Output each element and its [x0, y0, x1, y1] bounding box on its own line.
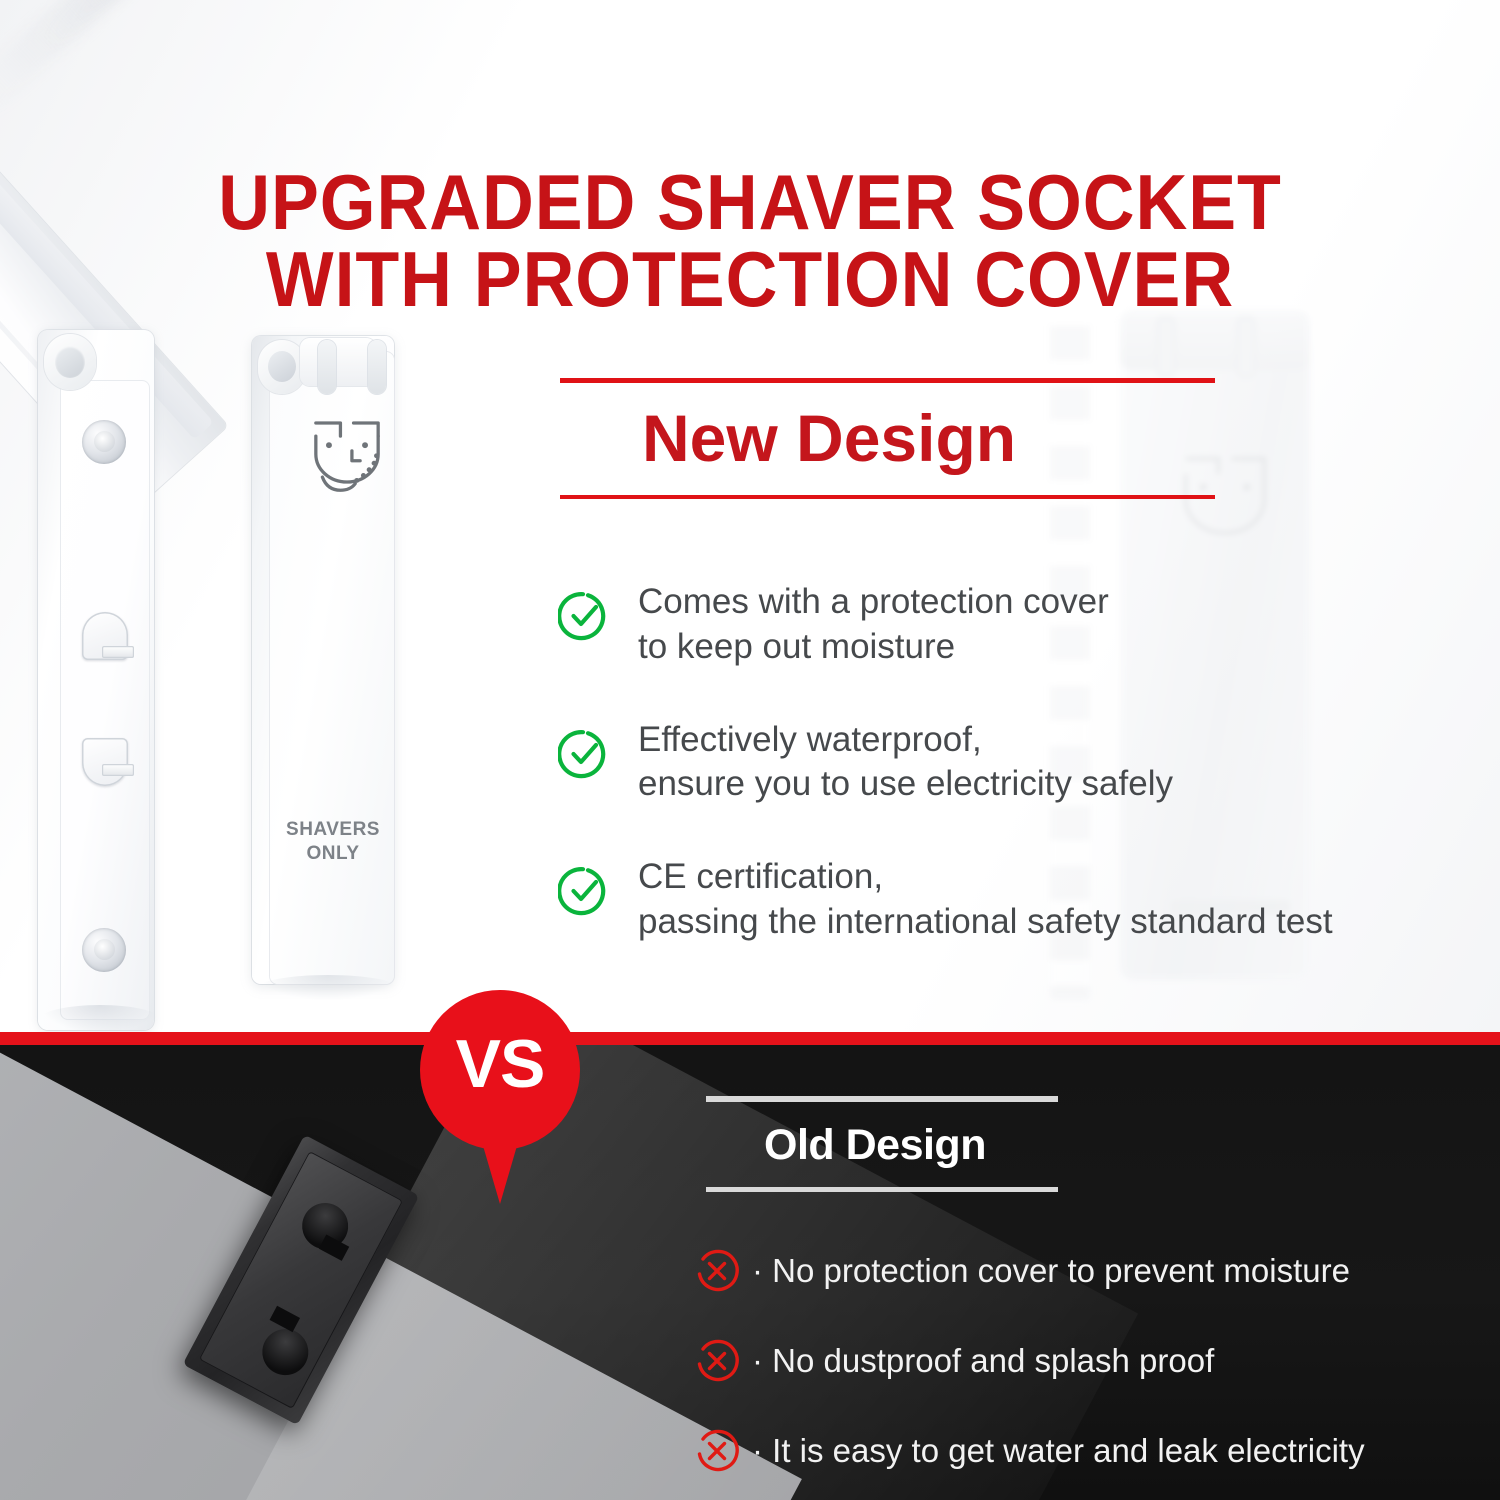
hole-round: [82, 738, 128, 786]
check-circle-icon: [558, 590, 610, 642]
hole-round: [254, 1321, 316, 1383]
page-title: UPGRADED SHAVER SOCKET WITH PROTECTION C…: [60, 88, 1440, 394]
old-design-heading-block: Old Design: [706, 1096, 1406, 1192]
mounting-screw: [82, 420, 126, 464]
feature-item: Comes with a protection cover to keep ou…: [558, 580, 1488, 670]
feature-text: Effectively waterproof, ensure you to us…: [638, 718, 1173, 808]
hole-bar: [102, 646, 134, 658]
vs-badge-label: VS: [420, 1030, 580, 1098]
hole-bar: [319, 1235, 349, 1261]
drawback-item: · It is easy to get water and leak elect…: [694, 1428, 1494, 1474]
feature-item: CE certification, passing the internatio…: [558, 855, 1488, 945]
hole-bar: [270, 1306, 300, 1332]
hole-bar: [102, 764, 134, 776]
cross-circle-icon: [694, 1338, 740, 1384]
screw-slot: [94, 939, 115, 960]
shavers-only-line1: SHAVERS: [268, 818, 398, 842]
heading-rule-bottom: [560, 495, 1215, 499]
cross-circle-icon: [694, 1428, 740, 1474]
heading-rule-bottom: [706, 1187, 1058, 1192]
shaving-face-icon: [306, 418, 388, 510]
shavers-only-line2: ONLY: [268, 842, 398, 866]
mounting-screw: [82, 928, 126, 972]
vs-badge: VS: [420, 990, 580, 1206]
drawback-text: · No protection cover to prevent moistur…: [752, 1251, 1350, 1291]
new-design-heading-block: New Design: [560, 378, 1460, 499]
socket-faceplate-open: [60, 380, 150, 1020]
new-design-section: SHAVERS ONLY UPGRADED SHAVER SOCKET WITH…: [0, 0, 1500, 1035]
section-divider: [0, 1032, 1500, 1045]
old-design-drawback-list: · No protection cover to prevent moistur…: [694, 1248, 1494, 1500]
feature-text: Comes with a protection cover to keep ou…: [638, 580, 1109, 670]
drawback-item: · No protection cover to prevent moistur…: [694, 1248, 1494, 1294]
check-circle-icon: [558, 728, 610, 780]
drawback-text: · It is easy to get water and leak elect…: [752, 1431, 1365, 1471]
drawback-text: · No dustproof and splash proof: [752, 1341, 1214, 1381]
old-design-heading: Old Design: [706, 1102, 1406, 1187]
old-socket-pin-hole: [287, 1195, 362, 1274]
title-line-1: UPGRADED SHAVER SOCKET: [218, 158, 1282, 246]
feature-item: Effectively waterproof, ensure you to us…: [558, 718, 1488, 808]
socket-pin-hole: [80, 738, 134, 812]
new-design-feature-list: Comes with a protection cover to keep ou…: [558, 580, 1488, 993]
check-circle-icon: [558, 865, 610, 917]
infographic-page: SHAVERS ONLY UPGRADED SHAVER SOCKET WITH…: [0, 0, 1500, 1500]
product-reflection: [258, 975, 398, 1001]
feature-text: CE certification, passing the internatio…: [638, 855, 1333, 945]
drawback-item: · No dustproof and splash proof: [694, 1338, 1494, 1384]
new-design-heading: New Design: [560, 383, 1460, 495]
socket-pin-hole: [80, 612, 134, 686]
screw-slot: [94, 431, 115, 452]
product-reflection: [40, 1005, 160, 1033]
cross-circle-icon: [694, 1248, 740, 1294]
title-line-2: WITH PROTECTION COVER: [60, 241, 1440, 317]
shavers-only-label: SHAVERS ONLY: [268, 818, 398, 866]
